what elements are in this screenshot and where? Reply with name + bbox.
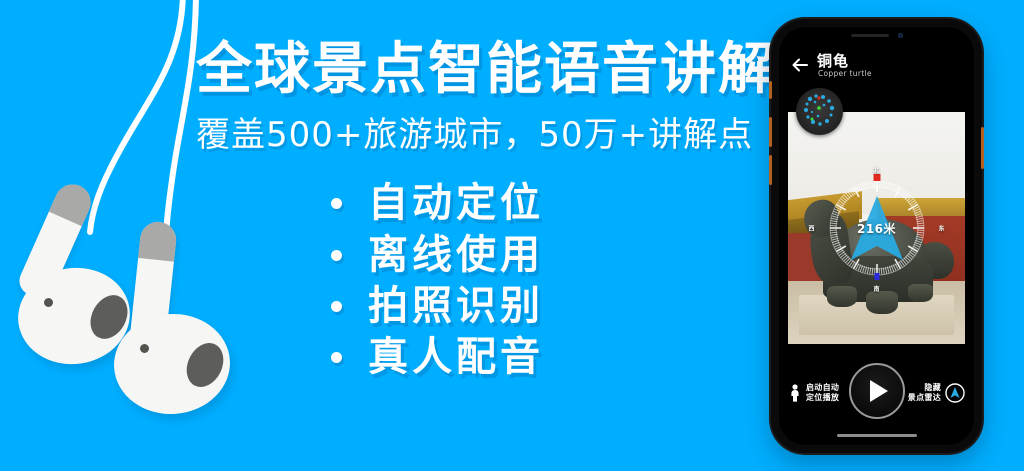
hide-radar-button[interactable]: 隐藏 景点雷达	[908, 383, 965, 403]
list-item: 离线使用	[331, 230, 756, 281]
play-button[interactable]	[849, 363, 905, 419]
feature-label: 自动定位	[368, 178, 544, 229]
feature-label: 真人配音	[368, 332, 544, 383]
distance-label: 216米	[857, 220, 896, 237]
feature-label: 拍照识别	[368, 281, 544, 332]
notch	[829, 27, 925, 44]
north-marker-icon	[873, 174, 880, 181]
bullet-icon	[331, 301, 342, 312]
page-title: 全球景点智能语音讲解	[196, 40, 756, 99]
south-marker-icon	[874, 273, 879, 280]
bullet-icon	[331, 198, 342, 209]
compass-west-label: 西	[809, 224, 815, 233]
power-button[interactable]	[981, 127, 984, 169]
compass-east-label: 东	[938, 224, 944, 233]
list-item: 真人配音	[331, 332, 756, 383]
bullet-icon	[331, 352, 342, 363]
compass-north-label: 北	[873, 165, 879, 174]
phone-mockup: 铜龟 Copper turtle	[771, 19, 982, 453]
compass-south-label: 南	[873, 284, 879, 293]
promo-banner: 全球景点智能语音讲解 覆盖500+旅游城市，50万+讲解点 自动定位 离线使用 …	[0, 0, 1024, 471]
speaker-grille-icon	[851, 34, 889, 37]
promo-copy: 全球景点智能语音讲解 覆盖500+旅游城市，50万+讲解点 自动定位 离线使用 …	[196, 40, 756, 383]
front-camera-icon	[898, 33, 903, 38]
bronze-turtle-statue-photo: 216米 北 东 南 西	[788, 112, 965, 344]
map-thumbnail-icon[interactable]	[796, 88, 843, 135]
bullet-icon	[331, 250, 342, 261]
radar-label-line1: 隐藏	[908, 383, 941, 393]
list-item: 拍照识别	[331, 281, 756, 332]
earbud-left	[18, 186, 138, 356]
poi-title: 铜龟	[817, 50, 849, 71]
mute-switch-button[interactable]	[769, 81, 772, 99]
play-icon	[870, 380, 888, 402]
navigation-radar-icon	[945, 383, 965, 403]
poi-subtitle: Copper turtle	[818, 69, 872, 78]
earbud-cable-right	[166, 0, 196, 244]
back-arrow-icon[interactable]	[792, 58, 808, 72]
page-subtitle: 覆盖500+旅游城市，50万+讲解点	[196, 107, 756, 156]
feature-list: 自动定位 离线使用 拍照识别 真人配音	[331, 178, 756, 383]
home-indicator	[837, 434, 917, 437]
autoplay-label-line1: 启动自动	[806, 383, 839, 393]
phone-screen: 铜龟 Copper turtle	[779, 27, 974, 445]
ar-compass: 216米 北 东 南 西	[821, 172, 933, 284]
app-navbar: 铜龟 Copper turtle	[779, 47, 974, 91]
volume-up-button[interactable]	[769, 117, 772, 147]
feature-label: 离线使用	[368, 230, 544, 281]
autoplay-toggle-button[interactable]: 启动自动 定位播放	[789, 383, 839, 403]
list-item: 自动定位	[331, 178, 756, 229]
player-bottom-bar: 启动自动 定位播放 隐藏 景点雷达	[779, 345, 974, 445]
volume-down-button[interactable]	[769, 155, 772, 185]
autoplay-label-line2: 定位播放	[806, 393, 839, 403]
walking-person-icon	[789, 384, 801, 402]
radar-label-line2: 景点雷达	[908, 393, 941, 403]
